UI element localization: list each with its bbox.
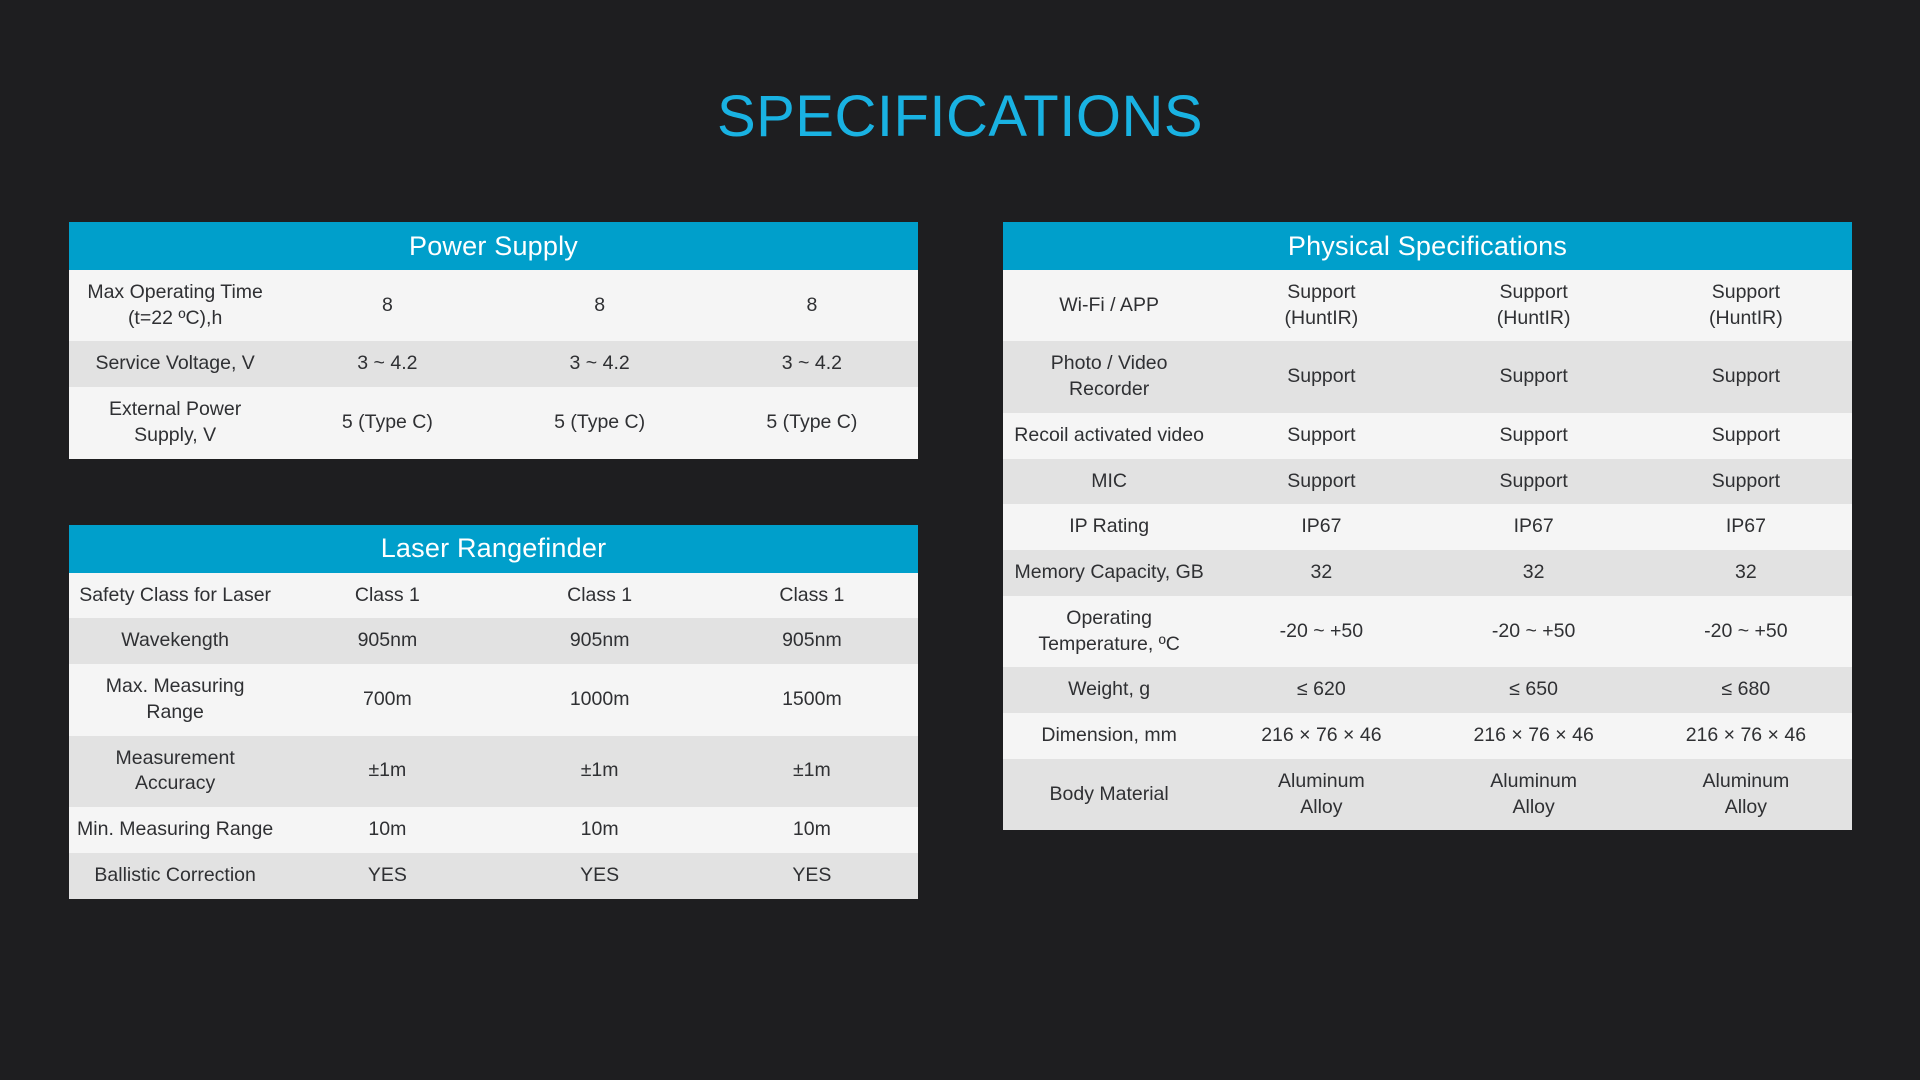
row-value-1: Support bbox=[1215, 459, 1427, 505]
row-value-1: Support (HuntIR) bbox=[1215, 270, 1427, 341]
row-value-2: -20 ~ +50 bbox=[1428, 596, 1640, 667]
laser-rangefinder-header: Laser Rangefinder bbox=[69, 525, 918, 573]
row-value-1: Support bbox=[1215, 413, 1427, 459]
row-value-1: 905nm bbox=[281, 618, 493, 664]
row-label: IP Rating bbox=[1003, 504, 1215, 550]
row-value-2: ≤ 650 bbox=[1428, 667, 1640, 713]
row-value-2: 216 × 76 × 46 bbox=[1428, 713, 1640, 759]
row-value-2: ±1m bbox=[494, 736, 706, 807]
table-row: Memory Capacity, GB 32 32 32 bbox=[1003, 550, 1852, 596]
table-row: Operating Temperature, ºC -20 ~ +50 -20 … bbox=[1003, 596, 1852, 667]
row-value-2: 1000m bbox=[494, 664, 706, 735]
table-row: External Power Supply, V 5 (Type C) 5 (T… bbox=[69, 387, 918, 458]
table-row: Dimension, mm 216 × 76 × 46 216 × 76 × 4… bbox=[1003, 713, 1852, 759]
row-value-1: Support bbox=[1215, 341, 1427, 412]
laser-rangefinder-body: Safety Class for Laser Class 1 Class 1 C… bbox=[69, 573, 918, 899]
right-column: Physical Specifications Wi-Fi / APP Supp… bbox=[1003, 222, 1852, 830]
row-value-3: 32 bbox=[1640, 550, 1852, 596]
row-label: Ballistic Correction bbox=[69, 853, 281, 899]
row-label: Min. Measuring Range bbox=[69, 807, 281, 853]
row-value-3: Support bbox=[1640, 341, 1852, 412]
row-value-3: 1500m bbox=[706, 664, 918, 735]
row-value-2: Aluminum Alloy bbox=[1428, 759, 1640, 830]
table-row: Weight, g ≤ 620 ≤ 650 ≤ 680 bbox=[1003, 667, 1852, 713]
row-value-1: 3 ~ 4.2 bbox=[281, 341, 493, 387]
row-value-1: -20 ~ +50 bbox=[1215, 596, 1427, 667]
row-value-3: ≤ 680 bbox=[1640, 667, 1852, 713]
row-value-3: 10m bbox=[706, 807, 918, 853]
specifications-page: SPECIFICATIONS Power Supply Max Operatin… bbox=[0, 0, 1920, 1080]
row-value-3: IP67 bbox=[1640, 504, 1852, 550]
table-gap bbox=[69, 459, 918, 525]
laser-rangefinder-table: Laser Rangefinder Safety Class for Laser… bbox=[69, 525, 918, 899]
row-label: External Power Supply, V bbox=[69, 387, 281, 458]
row-value-1: 10m bbox=[281, 807, 493, 853]
left-column: Power Supply Max Operating Time (t=22 ºC… bbox=[69, 222, 918, 899]
row-value-3: 8 bbox=[706, 270, 918, 341]
row-value-2: Support (HuntIR) bbox=[1428, 270, 1640, 341]
row-value-1: ±1m bbox=[281, 736, 493, 807]
row-value-2: Support bbox=[1428, 413, 1640, 459]
row-label: Dimension, mm bbox=[1003, 713, 1215, 759]
table-row: IP Rating IP67 IP67 IP67 bbox=[1003, 504, 1852, 550]
power-supply-body: Max Operating Time (t=22 ºC),h 8 8 8 Ser… bbox=[69, 270, 918, 459]
row-value-1: 216 × 76 × 46 bbox=[1215, 713, 1427, 759]
row-value-1: Aluminum Alloy bbox=[1215, 759, 1427, 830]
row-label: Operating Temperature, ºC bbox=[1003, 596, 1215, 667]
physical-specifications-header: Physical Specifications bbox=[1003, 222, 1852, 270]
row-value-2: 5 (Type C) bbox=[494, 387, 706, 458]
row-value-3: Support bbox=[1640, 459, 1852, 505]
table-row: Safety Class for Laser Class 1 Class 1 C… bbox=[69, 573, 918, 619]
row-value-3: Aluminum Alloy bbox=[1640, 759, 1852, 830]
table-row: Min. Measuring Range 10m 10m 10m bbox=[69, 807, 918, 853]
row-value-2: Class 1 bbox=[494, 573, 706, 619]
row-label: Wavekength bbox=[69, 618, 281, 664]
table-row: Max Operating Time (t=22 ºC),h 8 8 8 bbox=[69, 270, 918, 341]
table-row: Body Material Aluminum Alloy Aluminum Al… bbox=[1003, 759, 1852, 830]
row-value-1: IP67 bbox=[1215, 504, 1427, 550]
row-label: Body Material bbox=[1003, 759, 1215, 830]
row-value-2: 3 ~ 4.2 bbox=[494, 341, 706, 387]
table-row: Wi-Fi / APP Support (HuntIR) Support (Hu… bbox=[1003, 270, 1852, 341]
row-label: Wi-Fi / APP bbox=[1003, 270, 1215, 341]
row-label: Safety Class for Laser bbox=[69, 573, 281, 619]
row-label: Max. Measuring Range bbox=[69, 664, 281, 735]
row-value-3: -20 ~ +50 bbox=[1640, 596, 1852, 667]
row-label: Recoil activated video bbox=[1003, 413, 1215, 459]
page-title: SPECIFICATIONS bbox=[0, 88, 1920, 146]
row-label: Memory Capacity, GB bbox=[1003, 550, 1215, 596]
power-supply-header: Power Supply bbox=[69, 222, 918, 270]
row-value-2: 8 bbox=[494, 270, 706, 341]
row-value-3: ±1m bbox=[706, 736, 918, 807]
table-row: Ballistic Correction YES YES YES bbox=[69, 853, 918, 899]
row-value-2: 905nm bbox=[494, 618, 706, 664]
table-row: MIC Support Support Support bbox=[1003, 459, 1852, 505]
row-value-2: 32 bbox=[1428, 550, 1640, 596]
row-value-1: YES bbox=[281, 853, 493, 899]
row-value-1: ≤ 620 bbox=[1215, 667, 1427, 713]
row-value-3: YES bbox=[706, 853, 918, 899]
row-label: Max Operating Time (t=22 ºC),h bbox=[69, 270, 281, 341]
row-value-2: YES bbox=[494, 853, 706, 899]
row-label: Photo / Video Recorder bbox=[1003, 341, 1215, 412]
row-value-1: 8 bbox=[281, 270, 493, 341]
row-value-3: Class 1 bbox=[706, 573, 918, 619]
row-value-3: 216 × 76 × 46 bbox=[1640, 713, 1852, 759]
row-value-3: Support (HuntIR) bbox=[1640, 270, 1852, 341]
row-value-1: 32 bbox=[1215, 550, 1427, 596]
row-value-3: 3 ~ 4.2 bbox=[706, 341, 918, 387]
row-value-2: Support bbox=[1428, 459, 1640, 505]
row-value-3: Support bbox=[1640, 413, 1852, 459]
power-supply-table: Power Supply Max Operating Time (t=22 ºC… bbox=[69, 222, 918, 459]
row-value-1: 700m bbox=[281, 664, 493, 735]
row-value-2: IP67 bbox=[1428, 504, 1640, 550]
row-value-3: 905nm bbox=[706, 618, 918, 664]
row-label: MIC bbox=[1003, 459, 1215, 505]
row-label: Service Voltage, V bbox=[69, 341, 281, 387]
table-row: Max. Measuring Range 700m 1000m 1500m bbox=[69, 664, 918, 735]
table-row: Measurement Accuracy ±1m ±1m ±1m bbox=[69, 736, 918, 807]
row-value-3: 5 (Type C) bbox=[706, 387, 918, 458]
row-value-2: Support bbox=[1428, 341, 1640, 412]
row-label: Weight, g bbox=[1003, 667, 1215, 713]
physical-specifications-body: Wi-Fi / APP Support (HuntIR) Support (Hu… bbox=[1003, 270, 1852, 830]
table-row: Photo / Video Recorder Support Support S… bbox=[1003, 341, 1852, 412]
row-value-1: Class 1 bbox=[281, 573, 493, 619]
table-row: Service Voltage, V 3 ~ 4.2 3 ~ 4.2 3 ~ 4… bbox=[69, 341, 918, 387]
table-row: Wavekength 905nm 905nm 905nm bbox=[69, 618, 918, 664]
row-label: Measurement Accuracy bbox=[69, 736, 281, 807]
row-value-2: 10m bbox=[494, 807, 706, 853]
physical-specifications-table: Physical Specifications Wi-Fi / APP Supp… bbox=[1003, 222, 1852, 830]
row-value-1: 5 (Type C) bbox=[281, 387, 493, 458]
table-row: Recoil activated video Support Support S… bbox=[1003, 413, 1852, 459]
